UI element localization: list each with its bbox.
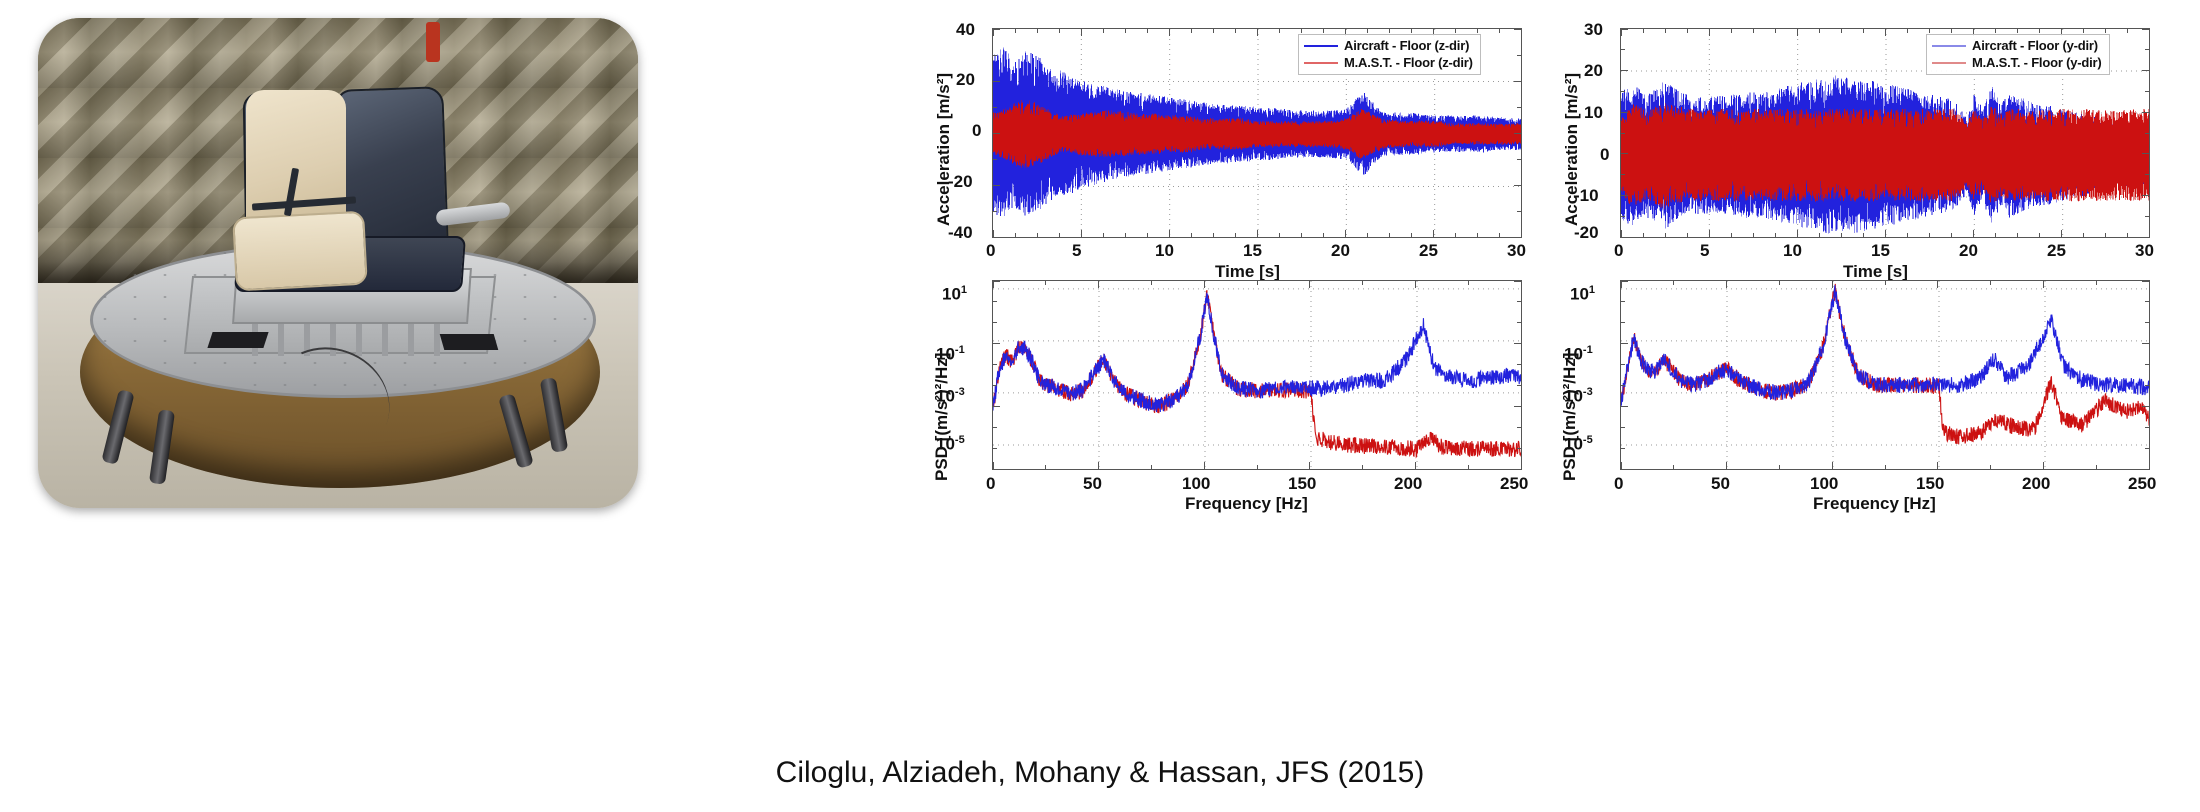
xtick: 100 [1182, 474, 1210, 494]
xtick: 100 [1810, 474, 1838, 494]
xtick: 30 [2135, 241, 2154, 261]
ytick: 20 [1584, 61, 1603, 81]
legend-label: Aircraft - Floor (y-dir) [1972, 38, 2098, 53]
chart-time-y: Acceleration [m/s²] 30 20 10 0 -10 -20 A… [1548, 8, 2168, 258]
chart-psd-z: PSD [(m/s²)²/Hz] 101 10-1 10-3 10-5 0 50… [920, 266, 1540, 511]
xtick: 5 [1700, 241, 1709, 261]
accelerometer-block [207, 332, 268, 348]
ytick: 101 [942, 284, 967, 305]
xtick: 10 [1783, 241, 1802, 261]
accelerometer-block [440, 334, 499, 350]
chart-psd-y-traces [1621, 281, 2150, 470]
dummy-lap-mass [232, 211, 368, 292]
ytick: 30 [1584, 20, 1603, 40]
xtick: 250 [2128, 474, 2156, 494]
red-marker-tape [426, 22, 440, 62]
chart-psd-z-plot-area [992, 280, 1522, 470]
ytick: 40 [956, 20, 975, 40]
chart-psd-z-traces [993, 281, 1522, 470]
legend-swatch-mast [1304, 62, 1338, 64]
chart-psd-z-ylabel: PSD [(m/s²)²/Hz] [932, 353, 952, 481]
results-figure: Acceleration [m/s²] 40 20 0 -20 -40 Airc… [920, 8, 2180, 508]
legend-swatch-mast [1932, 62, 1966, 64]
xtick: 25 [2047, 241, 2066, 261]
ytick: 0 [972, 121, 981, 141]
legend-swatch-aircraft [1304, 45, 1338, 47]
ytick: -20 [1574, 223, 1599, 243]
xtick: 150 [1288, 474, 1316, 494]
ytick: -20 [948, 172, 973, 192]
xtick: 20 [1331, 241, 1350, 261]
xtick: 0 [986, 474, 995, 494]
chart-psd-y-plot-area [1620, 280, 2150, 470]
chart-psd-z-xlabel: Frequency [Hz] [1185, 494, 1308, 514]
xtick: 15 [1871, 241, 1890, 261]
xtick: 50 [1083, 474, 1102, 494]
xtick: 10 [1155, 241, 1174, 261]
xtick: 0 [986, 241, 995, 261]
ytick: 10-1 [1564, 344, 1593, 365]
chart-psd-y: PSD [(m/s²)²/Hz] 101 10-1 10-3 10-5 0 50… [1548, 266, 2168, 511]
ytick: 10-3 [1564, 386, 1593, 407]
xtick: 20 [1959, 241, 1978, 261]
legend-label: Aircraft - Floor (z-dir) [1344, 38, 1469, 53]
ytick: 0 [1600, 145, 1609, 165]
ytick: 20 [956, 70, 975, 90]
xtick: 25 [1419, 241, 1438, 261]
figure-root: Acceleration [m/s²] 40 20 0 -20 -40 Airc… [0, 0, 2200, 812]
xtick: 30 [1507, 241, 1526, 261]
xtick: 0 [1614, 474, 1623, 494]
legend-label: M.A.S.T. - Floor (y-dir) [1972, 55, 2102, 70]
chart-time-y-legend: Aircraft - Floor (y-dir) M.A.S.T. - Floo… [1926, 34, 2110, 75]
xtick: 250 [1500, 474, 1528, 494]
ytick: 10 [1584, 103, 1603, 123]
xtick: 50 [1711, 474, 1730, 494]
ytick: 101 [1570, 284, 1595, 305]
xtick: 5 [1072, 241, 1081, 261]
chart-psd-y-xlabel: Frequency [Hz] [1813, 494, 1936, 514]
ytick: 10-5 [936, 434, 965, 455]
legend-swatch-aircraft [1932, 45, 1966, 47]
xtick: 0 [1614, 241, 1623, 261]
figure-caption: Ciloglu, Alziadeh, Mohany & Hassan, JFS … [0, 756, 2200, 790]
ytick: 10-3 [936, 386, 965, 407]
chart-time-z-legend: Aircraft - Floor (z-dir) M.A.S.T. - Floo… [1298, 34, 1481, 75]
legend-label: M.A.S.T. - Floor (z-dir) [1344, 55, 1473, 70]
chart-time-z: Acceleration [m/s²] 40 20 0 -20 -40 Airc… [920, 8, 1540, 258]
xtick: 200 [1394, 474, 1422, 494]
chart-psd-y-ylabel: PSD [(m/s²)²/Hz] [1560, 353, 1580, 481]
xtick: 200 [2022, 474, 2050, 494]
chart-time-z-ylabel: Acceleration [m/s²] [934, 73, 954, 226]
ytick: -40 [948, 223, 973, 243]
ytick: 10-1 [936, 344, 965, 365]
xtick: 15 [1243, 241, 1262, 261]
xtick: 150 [1916, 474, 1944, 494]
experiment-photo [38, 18, 638, 508]
ytick: -10 [1574, 186, 1599, 206]
ytick: 10-5 [1564, 434, 1593, 455]
